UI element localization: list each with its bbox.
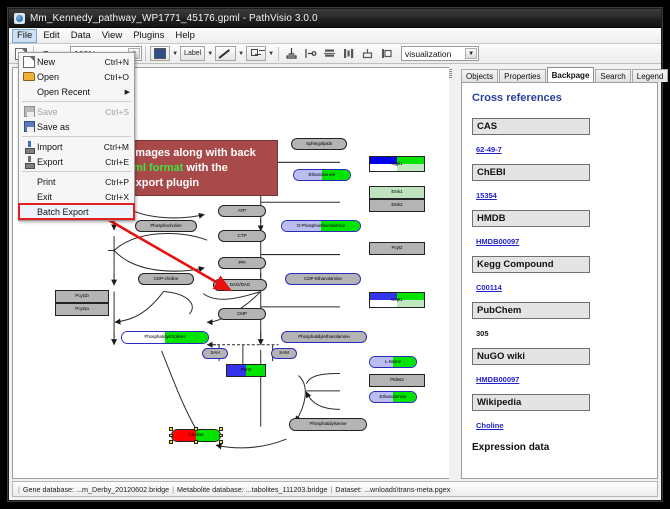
pathway-node-label: Choline bbox=[189, 433, 204, 438]
status-separator: | bbox=[172, 485, 174, 494]
file-menu-item-print[interactable]: PrintCtrl+P bbox=[19, 174, 134, 189]
status-separator: | bbox=[330, 485, 332, 494]
file-menu-item-label: Exit bbox=[37, 192, 105, 202]
xref-db-label: PubChem bbox=[472, 302, 590, 319]
pathway-node-cmp[interactable]: CMP bbox=[218, 308, 266, 320]
anchor-icon bbox=[246, 46, 266, 61]
menu-bar: File Edit Data View Plugins Help bbox=[9, 28, 661, 44]
pathway-node-label: CMP bbox=[237, 312, 247, 317]
menu-plugins[interactable]: Plugins bbox=[128, 29, 169, 43]
xref-block-wikipedia: Wikipedia Choline bbox=[472, 394, 647, 440]
pathway-node-ptdserine[interactable]: Phosphatidylserine bbox=[289, 418, 367, 431]
file-menu-item-save[interactable]: SaveCtrl+S bbox=[19, 104, 134, 119]
file-menu-item-label: Open bbox=[37, 72, 104, 82]
application-window: Mm_Kennedy_pathway_WP1771_45176.gpml - P… bbox=[8, 8, 662, 501]
file-menu-dropdown[interactable]: NewCtrl+NOpenCtrl+OOpen Recent▶SaveCtrl+… bbox=[18, 52, 135, 221]
align-top-icon[interactable] bbox=[283, 45, 300, 62]
pathway-node-label: SAM bbox=[279, 351, 289, 356]
selection-handle[interactable] bbox=[169, 440, 173, 444]
open-folder-icon-glyph bbox=[23, 72, 35, 81]
file-menu-item-save-as[interactable]: Save as bbox=[19, 119, 134, 134]
cross-references-heading: Cross references bbox=[472, 92, 647, 104]
pathway-node-lserine[interactable]: L-Serine bbox=[369, 356, 417, 368]
label-button-text: Label bbox=[180, 46, 205, 61]
selection-handle[interactable] bbox=[219, 440, 223, 444]
status-gene-database-value: ...m_Derby_20120602.bridge bbox=[76, 485, 169, 494]
xref-value-link[interactable]: 15354 bbox=[476, 191, 497, 200]
app-icon bbox=[14, 13, 25, 24]
pathway-node-label: DAG/DAG bbox=[230, 283, 251, 288]
pathway-node-label: Sgpl1 bbox=[391, 162, 402, 167]
pathway-node-label: L-Serine bbox=[385, 360, 402, 365]
pathway-node-label: Cept1 bbox=[391, 298, 403, 303]
side-panel: Objects Properties Backpage Search Legen… bbox=[452, 67, 658, 479]
status-bar: | Gene database: ...m_Derby_20120602.bri… bbox=[12, 481, 658, 497]
save-as-icon-glyph bbox=[24, 121, 35, 132]
pathway-node-cept1[interactable]: Cept1 bbox=[369, 292, 425, 308]
selection-handle[interactable] bbox=[194, 440, 198, 444]
pathway-node-label: CTP bbox=[238, 234, 247, 239]
chevron-down-icon[interactable]: ▼ bbox=[238, 51, 244, 57]
menu-separator bbox=[22, 171, 131, 172]
panel-left-gutter bbox=[461, 83, 462, 478]
pathway-node-pemt[interactable]: Pemt bbox=[226, 364, 266, 377]
file-menu-item-accelerator: Ctrl+X bbox=[105, 192, 134, 202]
pathway-node-label: O-Phosphoethanolamine bbox=[297, 224, 346, 229]
screenshot-root: Mm_Kennedy_pathway_WP1771_45176.gpml - P… bbox=[0, 0, 670, 509]
import-icon-glyph bbox=[24, 141, 34, 153]
toolbar-separator bbox=[145, 47, 146, 61]
pathway-node-pcyt1b[interactable]: Pcyt1b bbox=[55, 290, 109, 303]
tab-objects[interactable]: Objects bbox=[461, 69, 498, 82]
pathway-node-label: Pcyt2 bbox=[392, 246, 403, 251]
xref-value-link[interactable]: 62-49-7 bbox=[476, 145, 502, 154]
submenu-arrow-icon: ▶ bbox=[125, 88, 130, 96]
pathway-node-label: Etnk1 bbox=[391, 190, 402, 195]
legend-icon[interactable] bbox=[378, 45, 395, 62]
line-dropdown[interactable]: ▼ bbox=[215, 46, 244, 61]
line-icon bbox=[215, 46, 236, 61]
align-left-icon[interactable] bbox=[302, 45, 319, 62]
chevron-down-icon[interactable]: ▼ bbox=[268, 51, 274, 57]
pathway-node-sphingolipids[interactable]: Sphingolipids bbox=[291, 138, 347, 150]
file-menu-item-exit[interactable]: ExitCtrl+X bbox=[19, 189, 134, 204]
xref-db-label: ChEBI bbox=[472, 164, 590, 181]
label-dropdown[interactable]: Label ▼ bbox=[180, 46, 213, 61]
visualization-value: visualization bbox=[405, 49, 451, 59]
panel-splitter[interactable] bbox=[449, 67, 452, 479]
file-menu-item-label: Batch Export bbox=[37, 207, 129, 217]
pathway-node-label: Phosphocholine bbox=[150, 224, 181, 229]
export-icon-glyph bbox=[24, 156, 34, 168]
pathway-node-pcyt2[interactable]: Pcyt2 bbox=[369, 242, 425, 255]
tab-legend[interactable]: Legend bbox=[632, 69, 669, 82]
status-metabolite-database-value: ...tabolites_111203.bridge bbox=[246, 485, 328, 494]
pathway-node-ppi[interactable]: PPI bbox=[218, 257, 266, 269]
pathway-node-label: Pemt bbox=[241, 368, 251, 373]
xref-block-kegg: Kegg Compound C00114 bbox=[472, 256, 647, 302]
status-dataset-value: ...wnloads\trans-meta.pgex bbox=[364, 485, 450, 494]
xref-value-link[interactable]: Choline bbox=[476, 421, 504, 430]
xref-value-link[interactable]: HMDB00097 bbox=[476, 375, 519, 384]
pathway-node-etnk2[interactable]: Etnk2 bbox=[369, 199, 425, 212]
status-dataset-label: Dataset: bbox=[335, 485, 362, 494]
pathway-node-label: Phosphatidylethanolamine bbox=[298, 335, 350, 340]
pathway-node-ctp[interactable]: CTP bbox=[218, 230, 266, 242]
xref-block-hmdb: HMDB HMDB00097 bbox=[472, 210, 647, 256]
save-icon bbox=[21, 106, 37, 117]
chevron-down-icon[interactable]: ▼ bbox=[207, 51, 213, 57]
visualization-combobox[interactable]: visualization ▼ bbox=[401, 46, 479, 61]
pathway-node-pcyt1a[interactable]: Pcyt1a bbox=[55, 303, 109, 316]
pathway-node-cdpcholine[interactable]: CDP-choline bbox=[138, 273, 194, 285]
selection-handle[interactable] bbox=[169, 427, 173, 431]
status-separator: | bbox=[18, 485, 20, 494]
menu-separator bbox=[22, 101, 131, 102]
file-menu-item-batch-export[interactable]: Batch Export bbox=[19, 204, 134, 219]
pathway-node-ethanolamine2[interactable]: Ethanolamine bbox=[369, 391, 417, 403]
menu-edit[interactable]: Edit bbox=[38, 29, 64, 43]
selection-handle[interactable] bbox=[169, 434, 173, 438]
import-icon bbox=[21, 141, 37, 153]
datanode-dropdown[interactable]: ▼ bbox=[150, 46, 178, 61]
save-icon-glyph bbox=[24, 106, 35, 117]
status-metabolite-database-label: Metabolite database: bbox=[177, 485, 244, 494]
menu-separator bbox=[22, 136, 131, 137]
file-menu-item-accelerator: Ctrl+N bbox=[105, 57, 134, 67]
file-menu-item-label: Open Recent bbox=[37, 87, 129, 97]
expression-data-heading: Expression data bbox=[472, 442, 647, 453]
pathway-node-cdpethanolamine[interactable]: CDP-Ethanolamine bbox=[285, 273, 361, 285]
menu-file[interactable]: File bbox=[12, 29, 37, 43]
xref-block-cas: CAS 62-49-7 bbox=[472, 118, 647, 164]
pathway-node-label: Phosphatidylserine bbox=[309, 422, 346, 427]
file-menu-item-label: New bbox=[37, 57, 105, 67]
pathway-node-label: Ptdss2 bbox=[390, 378, 403, 383]
menu-data[interactable]: Data bbox=[66, 29, 96, 43]
pathway-node-ethanolamine[interactable]: Ethanolamine bbox=[293, 169, 351, 181]
file-menu-item-label: Print bbox=[37, 177, 105, 187]
xref-block-pubchem: PubChem 305 bbox=[472, 302, 647, 348]
tab-properties[interactable]: Properties bbox=[499, 69, 545, 82]
xref-block-nugo: NuGO wiki HMDB00097 bbox=[472, 348, 647, 394]
pathway-node-label: ATP bbox=[238, 209, 246, 214]
file-menu-item-label: Save as bbox=[37, 122, 129, 132]
xref-db-label: NuGO wiki bbox=[472, 348, 590, 365]
file-menu-item-new[interactable]: NewCtrl+N bbox=[19, 54, 134, 69]
file-menu-item-accelerator: Ctrl+O bbox=[104, 72, 134, 82]
stack-icon[interactable] bbox=[359, 45, 376, 62]
pathway-node-etnk1[interactable]: Etnk1 bbox=[369, 186, 425, 199]
xref-value-text: 305 bbox=[476, 329, 489, 338]
xref-db-label: HMDB bbox=[472, 210, 590, 227]
pathway-node-label: Pcyt1a bbox=[75, 307, 88, 312]
pathway-node-label: Pcyt1b bbox=[75, 294, 88, 299]
new-file-icon-glyph bbox=[23, 56, 35, 68]
window-title: Mm_Kennedy_pathway_WP1771_45176.gpml - P… bbox=[30, 13, 318, 24]
pathway-node-sgpl1[interactable]: Sgpl1 bbox=[369, 156, 425, 172]
xref-value-link[interactable]: C00114 bbox=[476, 283, 502, 292]
tab-search[interactable]: Search bbox=[595, 69, 630, 82]
file-menu-item-label: Export bbox=[37, 157, 105, 167]
align-middle-icon[interactable] bbox=[321, 45, 338, 62]
file-menu-item-open-recent[interactable]: Open Recent▶ bbox=[19, 84, 134, 99]
file-menu-item-export[interactable]: ExportCtrl+E bbox=[19, 154, 134, 169]
selection-handle[interactable] bbox=[194, 427, 198, 431]
file-menu-item-label: Import bbox=[37, 142, 104, 152]
chevron-down-icon[interactable]: ▼ bbox=[465, 48, 477, 59]
xref-db-label: Kegg Compound bbox=[472, 256, 590, 273]
open-folder-icon bbox=[21, 72, 37, 81]
pathway-node-label: PPI bbox=[238, 261, 245, 266]
pathway-node-atp[interactable]: ATP bbox=[218, 205, 266, 217]
distribute-icon[interactable] bbox=[340, 45, 357, 62]
file-menu-item-accelerator: Ctrl+M bbox=[104, 142, 134, 152]
backpage-panel: Cross references CAS 62-49-7 ChEBI 15354… bbox=[461, 82, 658, 479]
pathway-node-label: Etnk2 bbox=[391, 203, 402, 208]
file-menu-item-accelerator: Ctrl+E bbox=[105, 157, 134, 167]
xref-block-chebi: ChEBI 15354 bbox=[472, 164, 647, 210]
pathway-node-dagdag[interactable]: DAG/DAG bbox=[213, 279, 267, 291]
chevron-down-icon[interactable]: ▼ bbox=[172, 51, 178, 57]
pathway-node-label: CDP-choline bbox=[154, 277, 179, 282]
xref-db-label: CAS bbox=[472, 118, 590, 135]
toolbar-separator bbox=[278, 47, 279, 61]
datanode-icon bbox=[150, 46, 170, 61]
selection-handle[interactable] bbox=[219, 434, 223, 438]
file-menu-item-open[interactable]: OpenCtrl+O bbox=[19, 69, 134, 84]
menu-help[interactable]: Help bbox=[170, 29, 200, 43]
selection-handle[interactable] bbox=[219, 427, 223, 431]
side-panel-tabs: Objects Properties Backpage Search Legen… bbox=[452, 67, 658, 82]
pathway-node-label: Sphingolipids bbox=[306, 142, 332, 147]
save-as-icon bbox=[21, 121, 37, 132]
new-file-icon bbox=[21, 56, 37, 68]
title-bar: Mm_Kennedy_pathway_WP1771_45176.gpml - P… bbox=[9, 9, 661, 28]
pathway-node-label: CDP-Ethanolamine bbox=[304, 277, 342, 282]
pathway-node-label: Phosphatidylcholines bbox=[144, 335, 185, 340]
anchor-dropdown[interactable]: ▼ bbox=[246, 46, 274, 61]
export-icon bbox=[21, 156, 37, 168]
pathway-node-label: SAH bbox=[210, 351, 219, 356]
xref-db-label: Wikipedia bbox=[472, 394, 590, 411]
status-gene-database-label: Gene database: bbox=[23, 485, 74, 494]
pathway-node-phosphocholine[interactable]: Phosphocholine bbox=[135, 220, 197, 232]
tab-backpage[interactable]: Backpage bbox=[547, 67, 595, 82]
pathway-node-label: Ethanolamine bbox=[309, 173, 336, 178]
pathway-node-ptdcholines[interactable]: Phosphatidylcholines bbox=[121, 331, 209, 344]
file-menu-item-import[interactable]: ImportCtrl+M bbox=[19, 139, 134, 154]
pathway-node-sah1[interactable]: SAH bbox=[202, 348, 228, 359]
pathway-node-ptdethanolamine[interactable]: Phosphatidylethanolamine bbox=[281, 331, 367, 343]
pathway-node-sam1[interactable]: SAM bbox=[271, 348, 297, 359]
file-menu-item-accelerator: Ctrl+P bbox=[105, 177, 134, 187]
callout-line2-b: with the bbox=[183, 162, 228, 174]
pathway-node-ophosphoetha[interactable]: O-Phosphoethanolamine bbox=[281, 220, 361, 232]
pathway-node-ptdss2[interactable]: Ptdss2 bbox=[369, 374, 425, 387]
menu-view[interactable]: View bbox=[97, 29, 127, 43]
file-menu-item-label: Save bbox=[37, 107, 105, 117]
pathway-node-label: Ethanolamine bbox=[380, 395, 407, 400]
file-menu-item-accelerator: Ctrl+S bbox=[105, 107, 134, 117]
xref-value-link[interactable]: HMDB00097 bbox=[476, 237, 519, 246]
